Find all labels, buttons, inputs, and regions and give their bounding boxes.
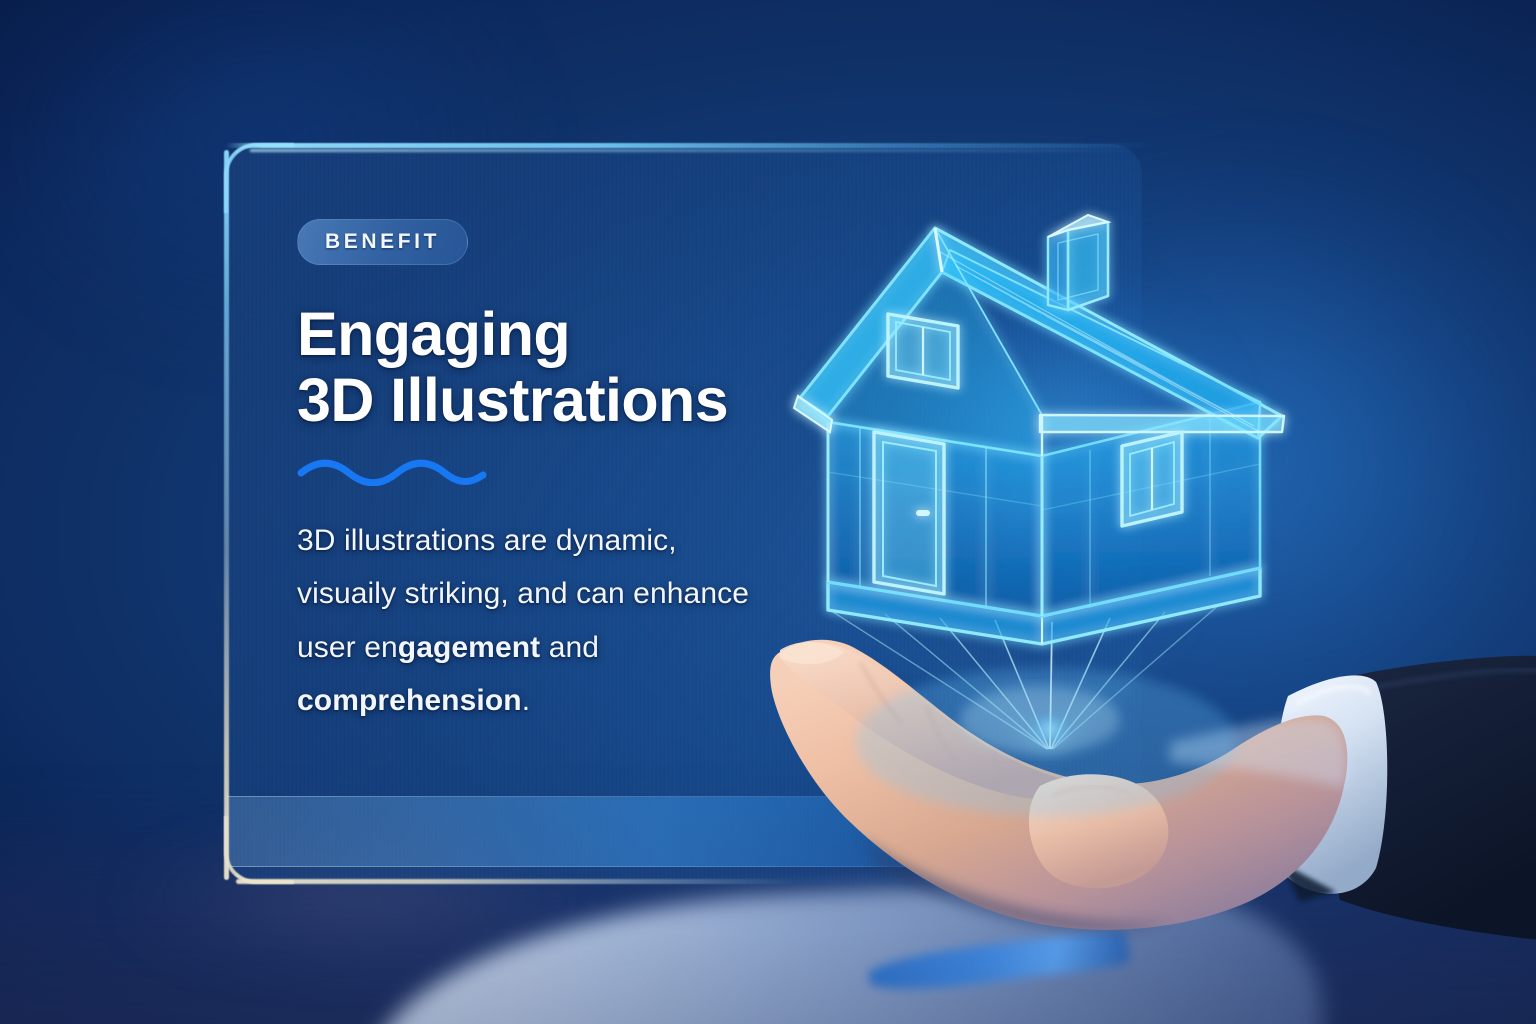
benefit-badge[interactable]: BENEFIT <box>297 219 468 265</box>
benefit-badge-label: BENEFIT <box>325 230 440 254</box>
body-bold-2: comprehension <box>297 684 522 717</box>
card-rim-bottom <box>236 879 796 884</box>
wavy-underline-icon <box>297 458 487 486</box>
body-part-3: . <box>522 684 530 717</box>
body-part-2: and <box>540 631 599 664</box>
page-title: Engaging 3D Illustrations <box>297 301 817 434</box>
house-attic-window <box>888 314 958 388</box>
open-palm-icon <box>740 600 1536 1024</box>
card-rim-left <box>224 150 229 880</box>
card-corner-bottom-left <box>224 816 294 884</box>
page-title-line-2: 3D Illustrations <box>297 367 817 433</box>
scene-canvas: BENEFIT Engaging 3D Illustrations 3D ill… <box>0 0 1536 1024</box>
house-roof <box>794 228 1284 456</box>
house-side-window <box>1122 432 1182 526</box>
page-title-line-1: Engaging <box>297 300 570 368</box>
house-front-door <box>874 432 944 594</box>
body-bold-1: gagement <box>398 631 541 664</box>
hologram-focal-point <box>1028 712 1072 746</box>
card-rim-top <box>226 143 1156 148</box>
card-rim-top-inner <box>250 149 1140 152</box>
card-content: BENEFIT Engaging 3D Illustrations 3D ill… <box>297 190 817 728</box>
body-paragraph: 3D illustrations are dynamic, visuaily s… <box>297 514 767 728</box>
house-chimney <box>1048 215 1108 310</box>
card-corner-top-left <box>224 143 294 213</box>
